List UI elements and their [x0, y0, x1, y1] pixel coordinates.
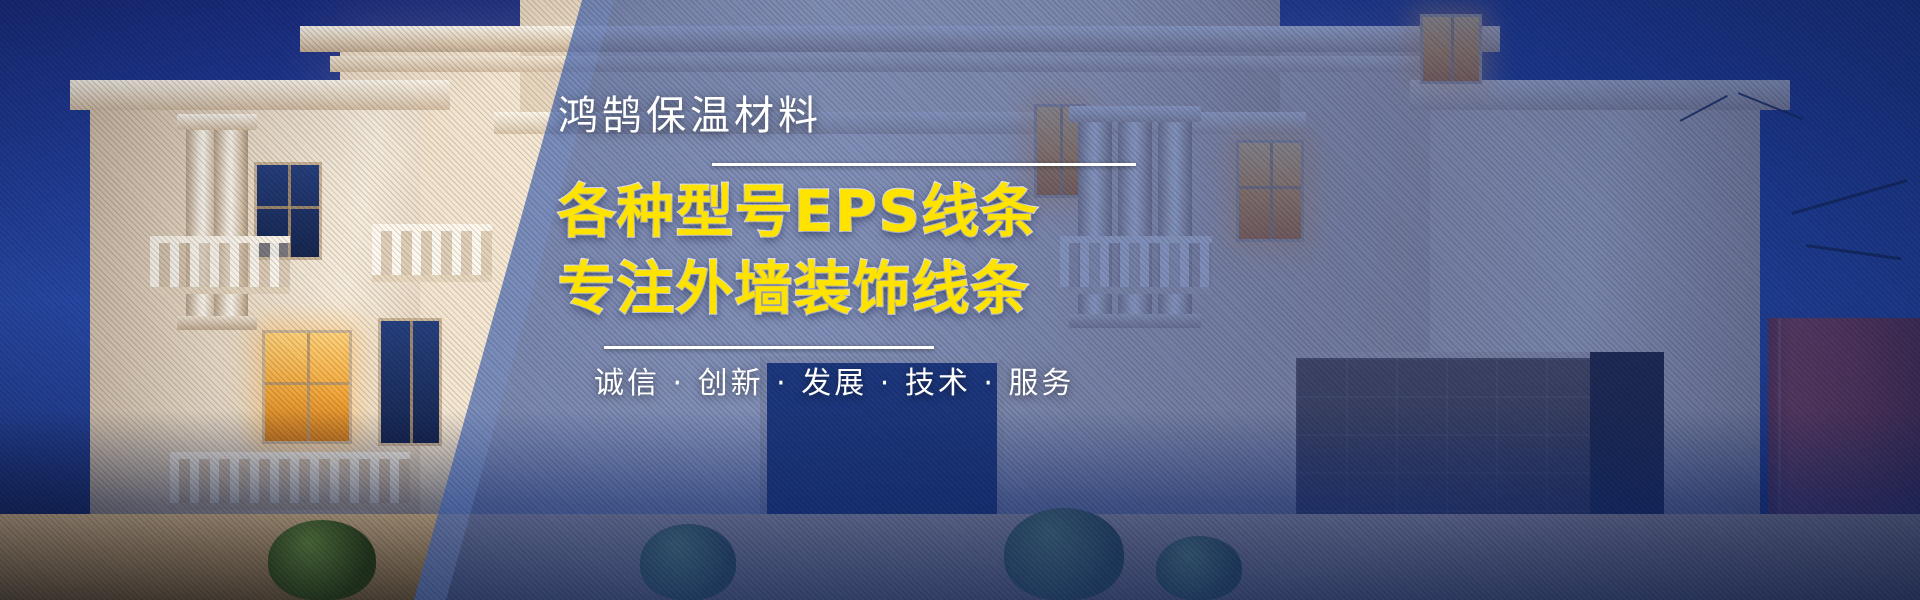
shrub-1	[268, 520, 376, 600]
brand-name: 鸿鹄保温材料	[558, 96, 1318, 136]
promo-banner: 鸿鹄保温材料 各种型号EPS线条 专注外墙装饰线条 诚信 · 创新 · 发展 ·…	[0, 0, 1920, 600]
shrub-3	[1004, 508, 1124, 600]
divider-top	[712, 163, 1136, 166]
divider-bottom	[604, 346, 934, 349]
banner-content: 鸿鹄保温材料 各种型号EPS线条 专注外墙装饰线条 诚信 · 创新 · 发展 ·…	[558, 96, 1318, 399]
branch-2	[1806, 244, 1901, 260]
headline-line-1: 各种型号EPS线条	[558, 182, 1318, 243]
headline-line-2: 专注外墙装饰线条	[558, 259, 1318, 320]
balustrade-center-left	[372, 224, 492, 282]
tagline: 诚信 · 创新 · 发展 · 技术 · 服务	[594, 369, 1318, 399]
roof-cornice	[300, 26, 1500, 52]
balustrade-left	[150, 236, 290, 294]
branch-1	[1792, 179, 1908, 215]
roof-cornice-lower	[330, 56, 1470, 72]
left-wing-roof	[70, 80, 450, 110]
shrub-4	[1156, 536, 1242, 600]
shrub-2	[640, 524, 736, 600]
window-dormer-lit	[1420, 14, 1482, 84]
right-wing-roof	[1410, 80, 1790, 110]
